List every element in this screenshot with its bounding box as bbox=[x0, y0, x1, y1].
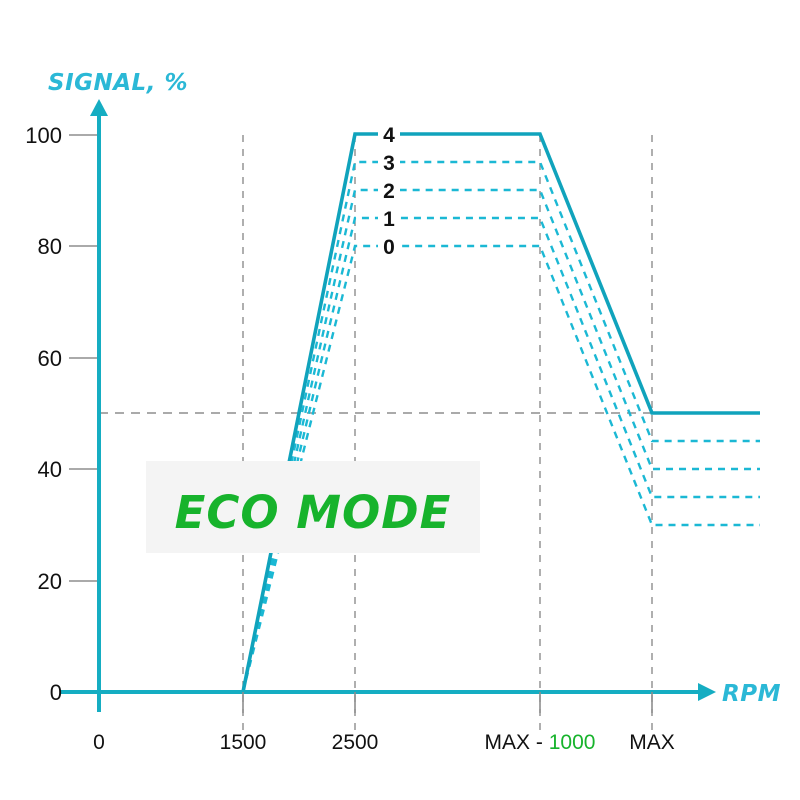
xtick-label-0: 0 bbox=[93, 731, 105, 754]
ytick-label-20: 20 bbox=[38, 569, 62, 594]
ytick-label-40: 40 bbox=[38, 457, 62, 482]
ytick-label-0: 0 bbox=[50, 680, 62, 705]
ytick-label-80: 80 bbox=[38, 234, 62, 259]
ytick-label-100: 100 bbox=[25, 123, 62, 148]
xtick-label-max-minus-1000: MAX - 1000 bbox=[485, 731, 596, 754]
xtick-label-max-minus-prefix: MAX - bbox=[485, 731, 549, 754]
y-axis-title: SIGNAL, % bbox=[48, 70, 188, 96]
ytick-label-60: 60 bbox=[38, 346, 62, 371]
curve-label-3: 3 bbox=[383, 152, 395, 175]
xtick-label-2500: 2500 bbox=[332, 731, 379, 754]
x-axis-title: RPM bbox=[722, 681, 781, 707]
curve-label-1: 1 bbox=[383, 208, 395, 231]
curve-labels: 4 3 2 1 0 bbox=[378, 120, 400, 261]
chart-container: ECO MODE 100 80 60 40 20 0 0 1500 2500 M… bbox=[0, 0, 800, 800]
curve-label-4: 4 bbox=[383, 124, 395, 147]
curve-label-2: 2 bbox=[383, 180, 395, 203]
eco-mode-watermark: ECO MODE bbox=[175, 486, 452, 539]
signal-rpm-chart: ECO MODE 100 80 60 40 20 0 0 1500 2500 M… bbox=[0, 0, 800, 800]
xtick-label-max-minus-value: 1000 bbox=[549, 731, 596, 754]
xtick-label-max: MAX bbox=[629, 731, 675, 754]
xtick-label-1500: 1500 bbox=[220, 731, 267, 754]
curve-label-0: 0 bbox=[383, 236, 395, 259]
